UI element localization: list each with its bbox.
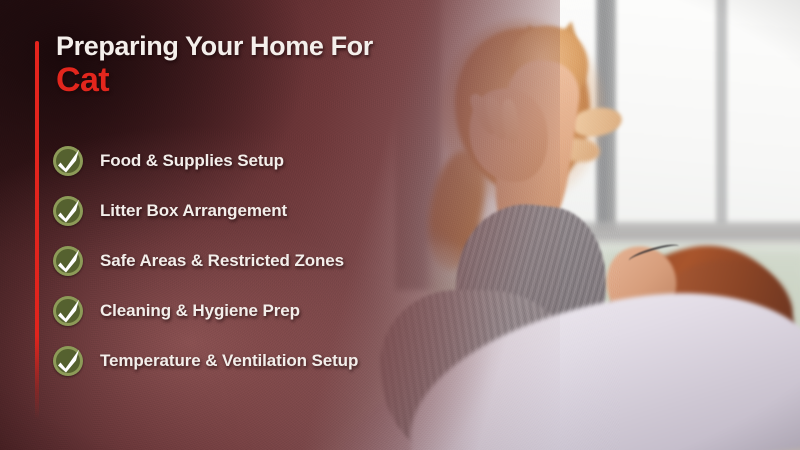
checklist: Food & Supplies Setup Litter Box Arrange… [53,136,523,386]
page-title: Preparing Your Home For [56,32,476,61]
check-circle-icon [53,246,83,276]
check-circle-icon [53,146,83,176]
check-circle-icon [53,296,83,326]
list-item-label: Litter Box Arrangement [100,201,287,221]
list-item[interactable]: Safe Areas & Restricted Zones [53,236,523,286]
red-accent-bar [35,41,39,419]
list-item[interactable]: Food & Supplies Setup [53,136,523,186]
list-item[interactable]: Temperature & Ventilation Setup [53,336,523,386]
title-block: Preparing Your Home For Cat [56,32,476,99]
check-circle-icon [53,196,83,226]
list-item-label: Cleaning & Hygiene Prep [100,301,300,321]
slide-content: Preparing Your Home For Cat Food & Suppl… [0,0,560,450]
list-item[interactable]: Cleaning & Hygiene Prep [53,286,523,336]
window-mullion-vertical-right [716,0,727,225]
list-item[interactable]: Litter Box Arrangement [53,186,523,236]
infographic-slide: Preparing Your Home For Cat Food & Suppl… [0,0,800,450]
list-item-label: Food & Supplies Setup [100,151,284,171]
check-circle-icon [53,346,83,376]
page-subtitle-highlight: Cat [56,62,476,99]
list-item-label: Temperature & Ventilation Setup [100,351,358,371]
list-item-label: Safe Areas & Restricted Zones [100,251,344,271]
